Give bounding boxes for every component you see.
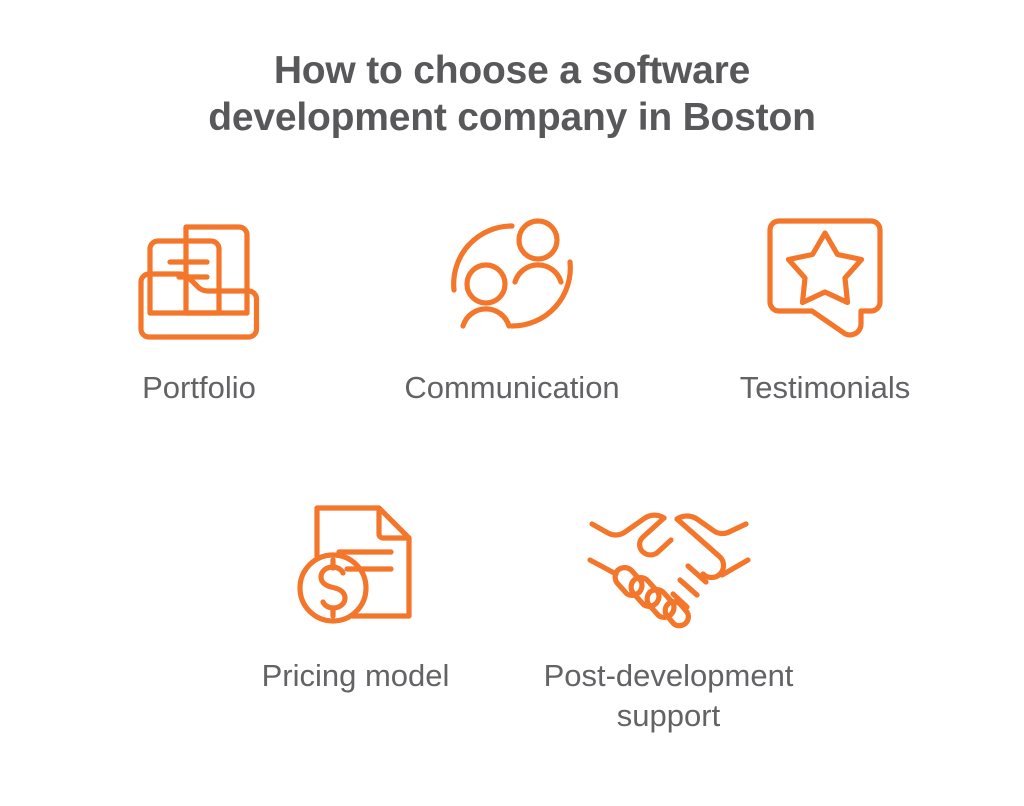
criteria-row-1: Portfolio Communication [0, 196, 1024, 408]
criteria-card-portfolio: Portfolio [43, 196, 356, 408]
criteria-card-communication: Communication [356, 196, 669, 408]
page-title: How to choose a software development com… [0, 48, 1024, 142]
folder-documents-icon [119, 196, 279, 356]
criteria-label: Testimonials [740, 368, 911, 408]
criteria-label: Portfolio [142, 368, 256, 408]
page-title-line-1: How to choose a software [80, 48, 944, 95]
document-dollar-coin-icon [276, 484, 436, 644]
criteria-card-testimonials: Testimonials [669, 196, 982, 408]
criteria-card-pricing-model: Pricing model [199, 484, 512, 735]
criteria-row-2: Pricing model [0, 484, 1024, 735]
criteria-label: Post-development support [519, 656, 819, 735]
handshake-icon [589, 484, 749, 644]
infographic-canvas: How to choose a software development com… [0, 0, 1024, 806]
page-title-line-2: development company in Boston [80, 95, 944, 142]
criteria-label: Communication [404, 368, 619, 408]
speech-bubble-star-icon [745, 196, 905, 356]
two-people-circular-arrows-icon [432, 196, 592, 356]
criteria-card-post-development-support: Post-development support [512, 484, 825, 735]
criteria-label: Pricing model [262, 656, 450, 696]
